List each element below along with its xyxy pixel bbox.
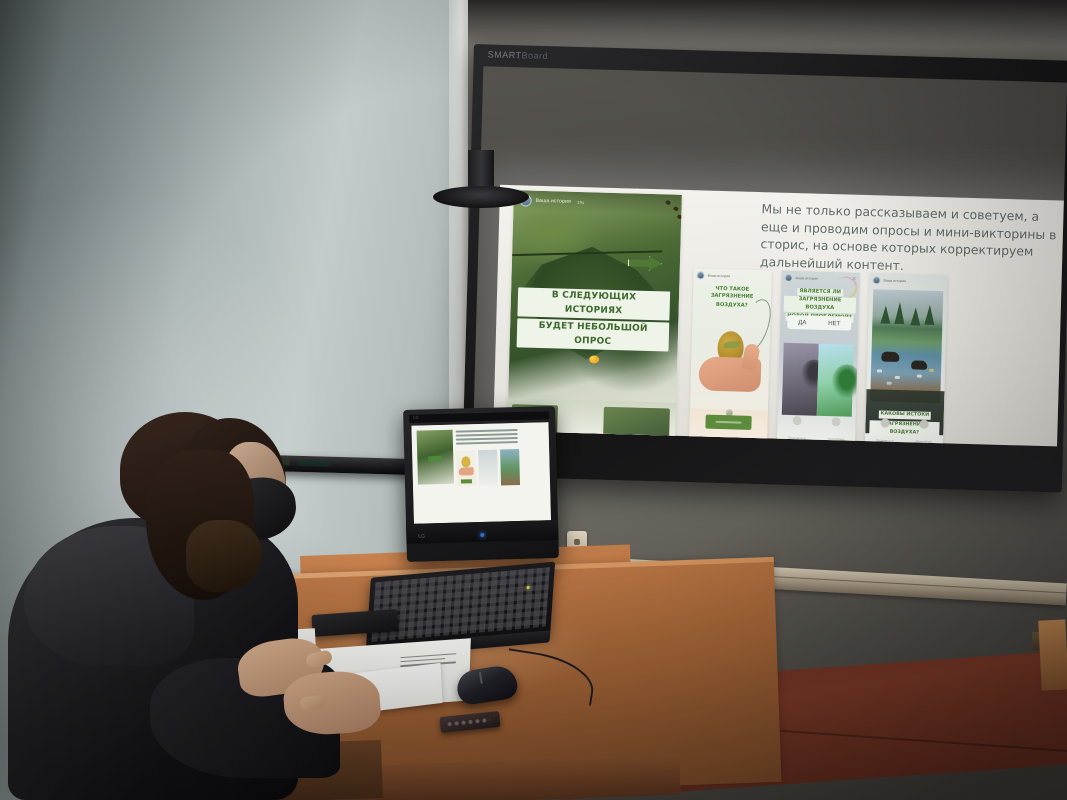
tree-icon bbox=[894, 302, 905, 324]
share-action[interactable]: Поделиться bbox=[876, 418, 894, 446]
mini-green-label bbox=[428, 456, 442, 461]
story-title-line2: ЗАГРЯЗНЕНИЕ ВОЗДУХА bbox=[784, 296, 856, 314]
mini-hand-icon bbox=[459, 467, 474, 475]
share-label: Поделиться bbox=[876, 438, 894, 442]
story-title-line1: ЯВЛЯЕТСЯ ЛИ bbox=[797, 288, 843, 297]
avatar bbox=[872, 276, 880, 284]
monitor-logo: LG bbox=[418, 533, 425, 539]
tree-icon bbox=[880, 305, 890, 323]
story-card-air-pollution-definition: Ваша история ЧТО ТАКОЕ ЗАГРЯЗНЕНИЕ ВОЗДУ… bbox=[689, 268, 772, 446]
more-action[interactable]: Подробнее bbox=[915, 419, 932, 446]
story-action-bar[interactable]: Поделиться Подробнее bbox=[777, 416, 856, 446]
mini-lightbulb-icon bbox=[461, 456, 470, 467]
more-icon bbox=[832, 417, 841, 426]
story-timestamp: 19ч bbox=[577, 199, 584, 204]
litter-icon bbox=[887, 382, 892, 385]
poll-option-yes[interactable]: ДА bbox=[798, 319, 807, 326]
board-brand-suffix: Board bbox=[521, 50, 548, 61]
hand-illustration bbox=[698, 356, 761, 392]
avatar bbox=[697, 271, 705, 279]
poll-option-no[interactable]: НЕТ bbox=[828, 319, 841, 326]
tree-icon bbox=[924, 305, 935, 325]
close-icon[interactable]: ✕ bbox=[851, 277, 856, 283]
monitor-screen[interactable] bbox=[411, 422, 551, 524]
sun-emoji-icon bbox=[589, 355, 599, 363]
hero-caption-line2: БУДЕТ НЕБОЛЬШОЙ ОПРОС bbox=[517, 318, 670, 351]
board-surface[interactable]: Мы не только рассказываем и советуем, а … bbox=[473, 66, 1067, 446]
ceiling-shadow bbox=[468, 0, 1067, 46]
living-tree-half bbox=[817, 344, 854, 417]
share-action[interactable]: Поделиться bbox=[788, 416, 806, 444]
share-icon bbox=[881, 419, 890, 428]
story-card-poll: Ваша история ✕ ЯВЛЯЕТСЯ ЛИ ЗАГРЯЗНЕНИЕ В… bbox=[777, 271, 860, 447]
mini-story-card bbox=[456, 450, 476, 486]
story-handle: Ваша история bbox=[883, 279, 905, 284]
board-brand-label: SMARTBoard bbox=[488, 49, 549, 61]
story-header: Ваша история bbox=[869, 273, 947, 289]
mirrored-slide bbox=[411, 422, 551, 524]
mini-text-lines bbox=[456, 429, 518, 447]
story-action-bar[interactable]: Поделиться Подробнее bbox=[865, 418, 944, 446]
power-led-icon bbox=[480, 533, 484, 537]
dead-tree-half bbox=[782, 343, 819, 416]
slide-content: Мы не только рассказываем и советуем, а … bbox=[493, 185, 1067, 447]
share-label: Поделиться bbox=[788, 436, 806, 440]
hero-caption-line1: В СЛЕДУЮЩИХ ИСТОРИЯХ bbox=[517, 287, 670, 320]
story-handle: Ваша история bbox=[708, 274, 730, 279]
seated-person bbox=[0, 390, 400, 800]
cow-icon bbox=[881, 352, 899, 362]
slide-body-text: Мы не только рассказываем и советуем, а … bbox=[760, 200, 1060, 279]
poll-illustration bbox=[782, 343, 854, 417]
landscape-illustration bbox=[870, 289, 943, 403]
cow-icon bbox=[911, 360, 927, 369]
story-header: Ваша история bbox=[693, 268, 771, 284]
litter-icon bbox=[895, 376, 900, 379]
more-action[interactable]: Подробнее bbox=[827, 417, 844, 445]
poll-options[interactable]: ДА НЕТ bbox=[787, 315, 851, 331]
hero-caption: В СЛЕДУЮЩИХ ИСТОРИЯХ БУДЕТ НЕБОЛЬШОЙ ОПР… bbox=[516, 286, 670, 370]
story-card-pollution-sources: Ваша история bbox=[865, 273, 948, 446]
avatar bbox=[784, 274, 792, 282]
litter-icon bbox=[917, 374, 922, 377]
remote-buttons[interactable] bbox=[446, 717, 490, 728]
more-label: Подробнее bbox=[916, 439, 933, 443]
projected-slide: Мы не только рассказываем и советуем, а … bbox=[493, 185, 1067, 447]
desk-right-edge bbox=[1038, 619, 1067, 690]
classroom-photo-scene: ▶▶ SMARTBoard Мы не только рассказываем … bbox=[0, 0, 1067, 800]
mini-story-card bbox=[478, 450, 498, 486]
monitor-stand-base bbox=[433, 186, 529, 208]
share-icon bbox=[793, 416, 802, 425]
more-icon bbox=[920, 420, 929, 429]
monitor-top-bezel: LG bbox=[409, 411, 549, 423]
thumbnail bbox=[603, 407, 670, 441]
monitor-brand-label: LG bbox=[413, 415, 418, 420]
computer-monitor[interactable]: LG LG bbox=[403, 406, 559, 562]
mini-reply-box bbox=[461, 479, 472, 483]
mini-story-card bbox=[500, 449, 520, 485]
tree-icon bbox=[910, 307, 920, 325]
more-label: Подробнее bbox=[828, 437, 845, 441]
mini-hero-card bbox=[417, 430, 454, 485]
story-handle: Ваша история bbox=[796, 276, 818, 281]
litter-icon bbox=[877, 369, 882, 372]
litter-icon bbox=[929, 369, 934, 372]
story-reply-box[interactable] bbox=[705, 415, 751, 430]
board-brand-text: SMART bbox=[488, 49, 522, 60]
story-title-line2: ВОЗДУХА? bbox=[714, 302, 750, 311]
leaf-icon bbox=[724, 341, 740, 348]
story-header: Ваша история ✕ bbox=[781, 271, 859, 287]
story-handle: Ваша история bbox=[536, 198, 571, 205]
right-hand bbox=[282, 669, 382, 738]
